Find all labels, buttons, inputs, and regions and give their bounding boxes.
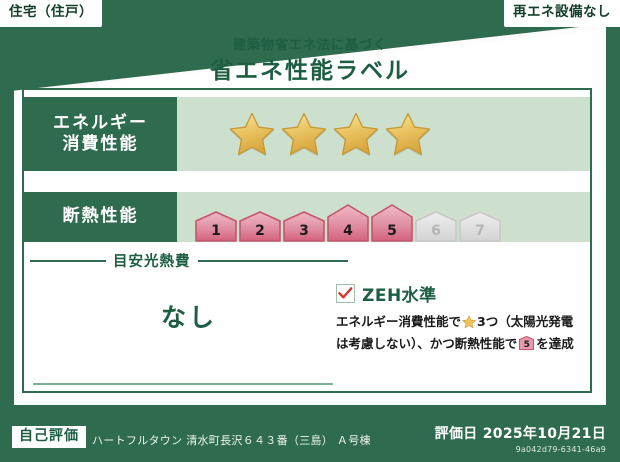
insulation-level-number: 5: [371, 224, 413, 238]
zeh-standard-block: ZEH水準 エネルギー消費性能で3つ（太陽光発電は考慮しない）、かつ断熱性能で5…: [336, 281, 586, 354]
insulation-performance-label: 断熱性能: [24, 192, 177, 242]
badge-building-type: 住宅（住戸）: [0, 0, 102, 27]
badge-renewable-equipment: 再エネ設備なし: [504, 0, 620, 27]
energy-performance-label: 住宅（住戸） 再エネ設備なし 建築物省エネ法に基づく 省エネ性能ラベル エネルギ…: [0, 0, 620, 462]
utility-cost-rule-left: [30, 260, 106, 262]
title-main: 省エネ性能ラベル: [0, 57, 620, 86]
zeh-desc-part1: エネルギー消費性能で: [336, 314, 461, 329]
zeh-desc-part3: を達成: [536, 336, 574, 351]
label-footer: 自己評価 ハートフルタウン 清水町長沢６４３番（三島） Ａ号棟 評価日 2025…: [0, 412, 620, 462]
property-address: ハートフルタウン 清水町長沢６４３番（三島） Ａ号棟: [92, 432, 371, 448]
insulation-level-number: 4: [327, 224, 369, 238]
energy-stars-container: [177, 97, 590, 171]
evaluation-date-label: 評価日: [435, 426, 478, 442]
insulation-level-5: 5: [371, 204, 413, 242]
zeh-checkbox[interactable]: [336, 284, 355, 303]
insulation-level-number: 1: [195, 224, 237, 238]
insulation-level-number: 3: [283, 224, 325, 238]
insulation-level-4: 4: [327, 204, 369, 242]
star-icon: [229, 111, 275, 157]
insulation-chip-number: 5: [519, 341, 534, 350]
title-subtitle: 建築物省エネ法に基づく: [0, 38, 620, 54]
star-icon-inline: [462, 315, 476, 334]
evaluation-code: 9a042d79-6341-46a9: [435, 445, 606, 454]
zeh-desc-part2: は考慮しない）、かつ断熱性能で: [336, 336, 517, 351]
energy-performance-label: エネルギー 消費性能: [24, 97, 177, 171]
evaluation-date: 評価日 2025年10月21日: [435, 423, 606, 443]
insulation-level-6: 6: [415, 211, 457, 242]
energy-label-line2: 消費性能: [63, 134, 139, 155]
evaluation-date-value: 2025年10月21日: [483, 426, 606, 442]
insulation-level-number: 2: [239, 224, 281, 238]
star-icon: [385, 111, 431, 157]
insulation-level-number: 7: [459, 224, 501, 238]
zeh-header: ZEH水準: [336, 281, 586, 306]
insulation-level-number: 6: [415, 224, 457, 238]
insulation-levels-container: 1234567: [177, 192, 590, 242]
insulation-level-7: 7: [459, 211, 501, 242]
insulation-level-1: 1: [195, 211, 237, 242]
zeh-desc-stars: 3つ（太陽光発電: [477, 314, 573, 329]
insulation-chip-icon: 5: [519, 336, 534, 350]
self-evaluation-badge: 自己評価: [12, 426, 86, 448]
evaluation-date-block: 評価日 2025年10月21日 9a042d79-6341-46a9: [435, 423, 606, 454]
energy-performance-row: エネルギー 消費性能: [24, 97, 590, 171]
zeh-title: ZEH水準: [362, 281, 437, 306]
energy-label-line1: エネルギー: [53, 113, 148, 134]
insulation-level-2: 2: [239, 211, 281, 242]
label-title: 建築物省エネ法に基づく 省エネ性能ラベル: [0, 38, 620, 85]
insulation-performance-row: 断熱性能 1234567: [24, 192, 590, 242]
utility-cost-title: 目安光熱費: [113, 250, 191, 271]
utility-cost-bottom-rule: [33, 383, 333, 385]
star-icon: [281, 111, 327, 157]
utility-cost-rule-right: [198, 260, 349, 262]
utility-cost-value: なし: [30, 298, 348, 334]
zeh-description: エネルギー消費性能で3つ（太陽光発電は考慮しない）、かつ断熱性能で5を達成: [336, 312, 586, 354]
insulation-level-3: 3: [283, 211, 325, 242]
check-icon: [338, 287, 353, 300]
utility-cost-header: 目安光熱費: [30, 250, 348, 271]
star-icon: [333, 111, 379, 157]
